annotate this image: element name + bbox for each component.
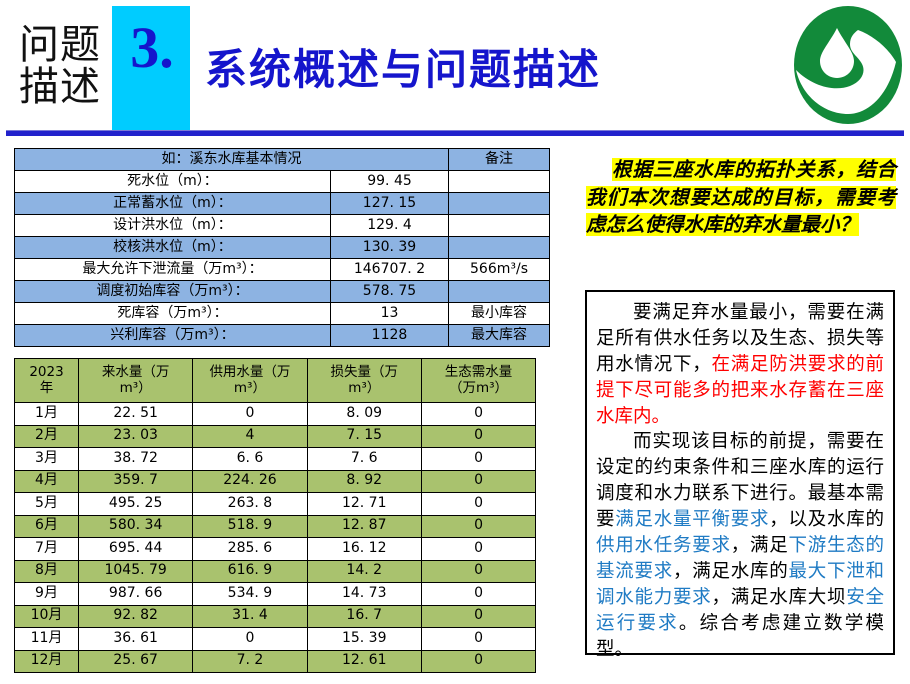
reservoir-param-label: 调度初始库容（万m³）： [15, 281, 331, 303]
monthly-inflow: 580. 34 [79, 515, 193, 538]
monthly-eco: 0 [421, 605, 535, 628]
reservoir-param-note: 最小库容 [449, 303, 550, 325]
reservoir-param-value: 1128 [331, 325, 449, 347]
p2-segment-d: ，满足水库的 [673, 561, 788, 582]
monthly-loss: 16. 7 [307, 605, 421, 628]
monthly-supply: 0 [193, 628, 307, 651]
monthly-inflow: 23. 03 [79, 425, 193, 448]
monthly-inflow: 359. 7 [79, 470, 193, 493]
monthly-inflow: 1045. 79 [79, 560, 193, 583]
monthly-month: 10月 [15, 605, 79, 628]
monthly-month: 5月 [15, 493, 79, 516]
monthly-supply: 518. 9 [193, 515, 307, 538]
monthly-month: 2月 [15, 425, 79, 448]
monthly-supply: 263. 8 [193, 493, 307, 516]
monthly-supply: 31. 4 [193, 605, 307, 628]
table-row: 5月495. 25263. 812. 710 [15, 493, 536, 516]
monthly-supply: 0 [193, 403, 307, 426]
reservoir-param-value: 13 [331, 303, 449, 325]
monthly-loss: 15. 39 [307, 628, 421, 651]
section-tab: 问题 描述 [8, 12, 112, 122]
monthly-supply: 616. 9 [193, 560, 307, 583]
section-tab-line-1: 问题 [19, 25, 101, 67]
table-row: 死库容（万m³）：13最小库容 [15, 303, 550, 325]
reservoir-param-note [449, 171, 550, 193]
reservoir-param-label: 兴利库容（万m³）： [15, 325, 331, 347]
p2-segment-e: ，满足水库大坝 [711, 587, 846, 608]
table-row: 最大允许下泄流量（万m³）：146707. 2566m³/s [15, 259, 550, 281]
monthly-eco: 0 [421, 538, 535, 561]
monthly-supply: 7. 2 [193, 650, 307, 673]
monthly-inflow: 987. 66 [79, 583, 193, 606]
monthly-column-header-2: 供用水量（万m³） [193, 359, 307, 403]
reservoir-param-label: 设计洪水位（m）： [15, 215, 331, 237]
table-row: 11月36. 61015. 390 [15, 628, 536, 651]
table-row: 8月1045. 79616. 914. 20 [15, 560, 536, 583]
monthly-inflow: 36. 61 [79, 628, 193, 651]
table-row: 1月22. 5108. 090 [15, 403, 536, 426]
monthly-month: 12月 [15, 650, 79, 673]
reservoir-param-value: 99. 45 [331, 171, 449, 193]
monthly-column-header-3: 损失量（万m³） [307, 359, 421, 403]
page-title: 系统概述与问题描述 [205, 36, 601, 97]
reservoir-param-value: 130. 39 [331, 237, 449, 259]
monthly-inflow: 22. 51 [79, 403, 193, 426]
table-header-row: 2023年来水量（万m³）供用水量（万m³）损失量（万m³）生态需水量（万m³） [15, 359, 536, 403]
reservoir-param-note: 566m³/s [449, 259, 550, 281]
monthly-eco: 0 [421, 493, 535, 516]
monthly-eco: 0 [421, 448, 535, 471]
monthly-month: 8月 [15, 560, 79, 583]
table-row: 9月987. 66534. 914. 730 [15, 583, 536, 606]
model-description-paragraph-2: 而实现该目标的前提，需要在设定的约束条件和三座水库的运行调度和水力联系下进行。最… [596, 429, 884, 662]
monthly-eco: 0 [421, 470, 535, 493]
reservoir-param-label: 正常蓄水位（m）： [15, 193, 331, 215]
monthly-month: 4月 [15, 470, 79, 493]
monthly-loss: 12. 61 [307, 650, 421, 673]
table-row: 3月38. 726. 67. 60 [15, 448, 536, 471]
monthly-loss: 12. 71 [307, 493, 421, 516]
monthly-eco: 0 [421, 515, 535, 538]
monthly-column-header-0: 2023年 [15, 359, 79, 403]
monthly-month: 1月 [15, 403, 79, 426]
monthly-inflow: 695. 44 [79, 538, 193, 561]
monthly-month: 11月 [15, 628, 79, 651]
table-row: 10月92. 8231. 416. 70 [15, 605, 536, 628]
table-row: 校核洪水位（m）：130. 39 [15, 237, 550, 259]
reservoir-param-note [449, 237, 550, 259]
reservoir-param-label: 校核洪水位（m）： [15, 237, 331, 259]
table-header-row: 如：溪东水库基本情况备注 [15, 149, 550, 171]
reservoir-param-label: 死水位（m）： [15, 171, 331, 193]
monthly-eco: 0 [421, 425, 535, 448]
reservoir-table-note-header: 备注 [449, 149, 550, 171]
monthly-supply: 285. 6 [193, 538, 307, 561]
reservoir-param-note: 最大库容 [449, 325, 550, 347]
header-divider [6, 130, 904, 136]
monthly-loss: 7. 15 [307, 425, 421, 448]
monthly-eco: 0 [421, 560, 535, 583]
reservoir-param-label: 最大允许下泄流量（万m³）： [15, 259, 331, 281]
monthly-loss: 12. 87 [307, 515, 421, 538]
reservoir-param-value: 129. 4 [331, 215, 449, 237]
monthly-month: 6月 [15, 515, 79, 538]
reservoir-info-table: 如：溪东水库基本情况备注死水位（m）：99. 45正常蓄水位（m）：127. 1… [14, 148, 550, 347]
table-row: 设计洪水位（m）：129. 4 [15, 215, 550, 237]
monthly-loss: 14. 2 [307, 560, 421, 583]
reservoir-param-note [449, 193, 550, 215]
p2-blue-water-balance: 满足水量平衡要求 [615, 509, 769, 530]
monthly-eco: 0 [421, 403, 535, 426]
monthly-supply: 6. 6 [193, 448, 307, 471]
reservoir-param-value: 127. 15 [331, 193, 449, 215]
monthly-loss: 8. 92 [307, 470, 421, 493]
monthly-water-table: 2023年来水量（万m³）供用水量（万m³）损失量（万m³）生态需水量（万m³）… [14, 358, 536, 673]
reservoir-param-value: 578. 75 [331, 281, 449, 303]
reservoir-param-note [449, 215, 550, 237]
objective-highlight-note: 根据三座水库的拓扑关系，结合我们本次想要达成的目标，需要考虑怎么使得水库的弃水量… [586, 156, 896, 239]
monthly-column-header-1: 来水量（万m³） [79, 359, 193, 403]
monthly-month: 3月 [15, 448, 79, 471]
monthly-loss: 7. 6 [307, 448, 421, 471]
monthly-supply: 4 [193, 425, 307, 448]
monthly-supply: 534. 9 [193, 583, 307, 606]
section-tab-line-2: 描述 [19, 67, 101, 109]
monthly-column-header-4: 生态需水量（万m³） [421, 359, 535, 403]
table-row: 6月580. 34518. 912. 870 [15, 515, 536, 538]
monthly-loss: 14. 73 [307, 583, 421, 606]
table-row: 12月25. 677. 212. 610 [15, 650, 536, 673]
monthly-loss: 8. 09 [307, 403, 421, 426]
model-description-box: 要满足弃水量最小，需要在满足所有供水任务以及生态、损失等用水情况下，在满足防洪要… [585, 290, 895, 655]
reservoir-param-note [449, 281, 550, 303]
monthly-eco: 0 [421, 583, 535, 606]
table-row: 7月695. 44285. 616. 120 [15, 538, 536, 561]
table-row: 4月359. 7224. 268. 920 [15, 470, 536, 493]
model-description-paragraph-1: 要满足弃水量最小，需要在满足所有供水任务以及生态、损失等用水情况下，在满足防洪要… [596, 300, 884, 429]
table-row: 死水位（m）：99. 45 [15, 171, 550, 193]
monthly-eco: 0 [421, 650, 535, 673]
monthly-month: 9月 [15, 583, 79, 606]
monthly-inflow: 38. 72 [79, 448, 193, 471]
reservoir-table-title: 如：溪东水库基本情况 [15, 149, 449, 171]
monthly-month: 7月 [15, 538, 79, 561]
p2-blue-supply-task: 供用水任务要求 [596, 535, 731, 556]
table-row: 2月23. 0347. 150 [15, 425, 536, 448]
monthly-inflow: 25. 67 [79, 650, 193, 673]
objective-highlight-text: 根据三座水库的拓扑关系，结合我们本次想要达成的目标，需要考虑怎么使得水库的弃水量… [586, 158, 896, 236]
p2-segment-c: ，满足 [731, 535, 789, 556]
reservoir-param-value: 146707. 2 [331, 259, 449, 281]
slide-header: 问题 描述 3. 系统概述与问题描述 [0, 0, 910, 136]
monthly-eco: 0 [421, 628, 535, 651]
monthly-inflow: 92. 82 [79, 605, 193, 628]
monthly-loss: 16. 12 [307, 538, 421, 561]
section-number: 3. [116, 18, 188, 79]
table-row: 调度初始库容（万m³）：578. 75 [15, 281, 550, 303]
p2-segment-b: ，以及水库的 [769, 509, 884, 530]
monthly-supply: 224. 26 [193, 470, 307, 493]
table-row: 正常蓄水位（m）：127. 15 [15, 193, 550, 215]
table-row: 兴利库容（万m³）：1128最大库容 [15, 325, 550, 347]
reservoir-param-label: 死库容（万m³）： [15, 303, 331, 325]
monthly-inflow: 495. 25 [79, 493, 193, 516]
water-droplet-logo-icon [792, 4, 904, 126]
